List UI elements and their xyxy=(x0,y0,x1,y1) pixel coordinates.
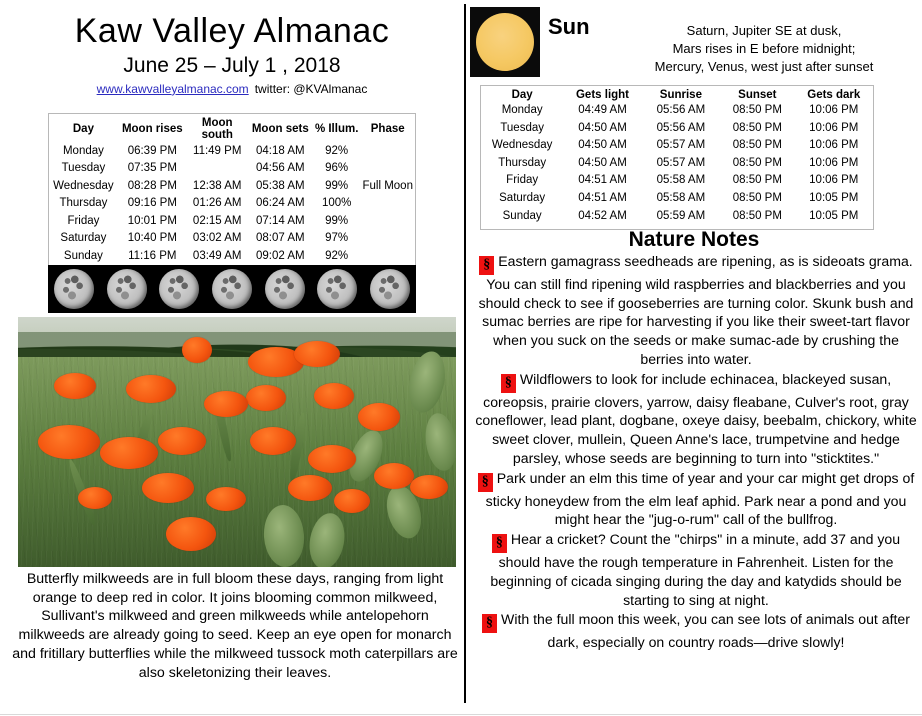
cell-day: Friday xyxy=(49,213,118,231)
list-item: §With the full moon this week, you can s… xyxy=(474,610,918,652)
moon-table-body: Monday06:39 PM11:49 PM04:18 AM92% Tuesda… xyxy=(49,143,415,266)
photo-blossom xyxy=(294,341,340,367)
cell-rises: 11:16 PM xyxy=(118,248,187,266)
cell-day: Sunday xyxy=(481,208,563,226)
cell-south: 03:49 AM xyxy=(187,248,248,266)
cell-sunset: 08:50 PM xyxy=(720,155,794,173)
moon-phase-icon xyxy=(159,269,199,309)
sun-col-day: Day xyxy=(481,88,563,102)
photo-blossom xyxy=(38,425,100,459)
photo-blossom xyxy=(358,403,400,431)
almanac-page: Kaw Valley Almanac June 25 – July 1 , 20… xyxy=(0,0,922,716)
moon-phase-icon xyxy=(54,269,94,309)
sun-col-sunrise: Sunrise xyxy=(642,88,720,102)
cell-gets-dark: 10:05 PM xyxy=(795,208,873,226)
table-row: Tuesday07:35 PM04:56 AM96% xyxy=(49,160,415,178)
note-text: Park under an elm this time of year and … xyxy=(486,470,915,528)
list-item: §Hear a cricket? Count the "chirps" in a… xyxy=(474,530,918,609)
cell-sets: 05:38 AM xyxy=(248,178,313,196)
cell-gets-light: 04:51 AM xyxy=(563,190,641,208)
table-row: Saturday10:40 PM03:02 AM08:07 AM97% xyxy=(49,230,415,248)
cell-phase: Full Moon xyxy=(360,178,415,196)
cell-gets-light: 04:51 AM xyxy=(563,172,641,190)
table-row: Thursday04:50 AM05:57 AM08:50 PM10:06 PM xyxy=(481,155,873,173)
planet-line: Mars rises in E before midnight; xyxy=(614,40,914,58)
cell-day: Sunday xyxy=(49,248,118,266)
section-bullet-icon: § xyxy=(492,534,507,553)
cell-phase xyxy=(360,160,415,178)
photo-blossom xyxy=(246,385,286,411)
table-row: Sunday04:52 AM05:59 AM08:50 PM10:05 PM xyxy=(481,208,873,226)
moon-phase-icon xyxy=(265,269,305,309)
cell-south xyxy=(187,160,248,178)
sun-header: Sun Saturn, Jupiter SE at dusk, Mars ris… xyxy=(466,0,922,78)
cell-sets: 06:24 AM xyxy=(248,195,313,213)
cell-sunrise: 05:56 AM xyxy=(642,102,720,120)
photo-blossom xyxy=(308,445,356,473)
page-title: Kaw Valley Almanac xyxy=(0,14,464,50)
date-range: June 25 – July 1 , 2018 xyxy=(0,54,464,77)
photo-blossom xyxy=(142,473,194,503)
cell-illum: 100% xyxy=(313,195,361,213)
photo-blossom xyxy=(288,475,332,501)
table-row: Sunday11:16 PM03:49 AM09:02 AM92% xyxy=(49,248,415,266)
list-item: §Wildflowers to look for include echinac… xyxy=(474,370,918,468)
cell-south: 03:02 AM xyxy=(187,230,248,248)
cell-sunset: 08:50 PM xyxy=(720,102,794,120)
cell-illum: 97% xyxy=(313,230,361,248)
section-bullet-icon: § xyxy=(501,374,516,393)
section-bullet-icon: § xyxy=(478,473,493,492)
photo-blossom xyxy=(54,373,96,399)
cell-sets: 09:02 AM xyxy=(248,248,313,266)
cell-gets-dark: 10:05 PM xyxy=(795,190,873,208)
sun-col-sunset: Sunset xyxy=(720,88,794,102)
sun-photo xyxy=(470,7,540,77)
cell-day: Saturday xyxy=(481,190,563,208)
cell-rises: 09:16 PM xyxy=(118,195,187,213)
cell-gets-light: 04:50 AM xyxy=(563,155,641,173)
table-row: Friday04:51 AM05:58 AM08:50 PM10:06 PM xyxy=(481,172,873,190)
cell-south: 02:15 AM xyxy=(187,213,248,231)
cell-gets-dark: 10:06 PM xyxy=(795,102,873,120)
photo-blossom xyxy=(78,487,112,509)
note-text: Eastern gamagrass seedheads are ripening… xyxy=(479,253,914,367)
cell-phase xyxy=(360,230,415,248)
cell-illum: 99% xyxy=(313,213,361,231)
section-bullet-icon: § xyxy=(482,614,497,633)
cell-sets: 04:18 AM xyxy=(248,143,313,161)
cell-illum: 96% xyxy=(313,160,361,178)
nature-notes-list: §Eastern gamagrass seedheads are ripenin… xyxy=(474,252,918,653)
list-item: §Eastern gamagrass seedheads are ripenin… xyxy=(474,252,918,369)
planet-line: Mercury, Venus, west just after sunset xyxy=(614,58,914,76)
right-column: Sun Saturn, Jupiter SE at dusk, Mars ris… xyxy=(466,0,922,716)
cell-rises: 06:39 PM xyxy=(118,143,187,161)
moon-col-day: Day xyxy=(49,116,118,143)
moon-col-phase: Phase xyxy=(360,116,415,143)
cell-sunrise: 05:58 AM xyxy=(642,190,720,208)
cell-south: 11:49 PM xyxy=(187,143,248,161)
cell-gets-light: 04:50 AM xyxy=(563,137,641,155)
cell-phase xyxy=(360,143,415,161)
sun-table: Day Gets light Sunrise Sunset Gets dark … xyxy=(481,88,873,225)
cell-gets-light: 04:52 AM xyxy=(563,208,641,226)
photo-blossom xyxy=(374,463,414,489)
cell-day: Thursday xyxy=(481,155,563,173)
photo-blossom xyxy=(250,427,296,455)
cell-rises: 10:01 PM xyxy=(118,213,187,231)
photo-blossom xyxy=(100,437,158,469)
cell-sunset: 08:50 PM xyxy=(720,137,794,155)
photo-blossom xyxy=(158,427,206,455)
table-row: Friday10:01 PM02:15 AM07:14 AM99% xyxy=(49,213,415,231)
moon-table-container: Day Moon rises Moonsouth Moon sets % Ill… xyxy=(48,113,416,269)
table-row: Thursday09:16 PM01:26 AM06:24 AM100% xyxy=(49,195,415,213)
cell-day: Monday xyxy=(481,102,563,120)
moon-col-sets: Moon sets xyxy=(248,116,313,143)
moon-phase-icon xyxy=(370,269,410,309)
photo-blossom xyxy=(334,489,370,513)
cell-phase xyxy=(360,195,415,213)
cell-rises: 08:28 PM xyxy=(118,178,187,196)
cell-gets-dark: 10:06 PM xyxy=(795,172,873,190)
sun-table-header-row: Day Gets light Sunrise Sunset Gets dark xyxy=(481,88,873,102)
sun-col-gets-dark: Gets dark xyxy=(795,88,873,102)
moon-table-header-row: Day Moon rises Moonsouth Moon sets % Ill… xyxy=(49,116,415,143)
moon-col-rises: Moon rises xyxy=(118,116,187,143)
table-row: Saturday04:51 AM05:58 AM08:50 PM10:05 PM xyxy=(481,190,873,208)
cell-sunset: 08:50 PM xyxy=(720,208,794,226)
cell-day: Monday xyxy=(49,143,118,161)
sun-col-gets-light: Gets light xyxy=(563,88,641,102)
photo-caption: Butterfly milkweeds are in full bloom th… xyxy=(10,570,460,682)
nature-notes-heading: Nature Notes xyxy=(466,228,922,252)
cell-day: Saturday xyxy=(49,230,118,248)
cell-day: Wednesday xyxy=(481,137,563,155)
cell-gets-dark: 10:06 PM xyxy=(795,120,873,138)
moon-phase-icon xyxy=(212,269,252,309)
cell-day: Wednesday xyxy=(49,178,118,196)
photo-blossom xyxy=(206,487,246,511)
cell-sunrise: 05:59 AM xyxy=(642,208,720,226)
planet-visibility-note: Saturn, Jupiter SE at dusk, Mars rises i… xyxy=(614,22,914,76)
cell-illum: 92% xyxy=(313,248,361,266)
cell-sets: 08:07 AM xyxy=(248,230,313,248)
masthead: Kaw Valley Almanac June 25 – July 1 , 20… xyxy=(0,0,464,96)
cell-gets-light: 04:50 AM xyxy=(563,120,641,138)
website-link[interactable]: www.kawvalleyalmanac.com xyxy=(97,82,249,96)
moon-table: Day Moon rises Moonsouth Moon sets % Ill… xyxy=(49,116,415,265)
moon-col-south: Moonsouth xyxy=(187,116,248,143)
table-row: Wednesday04:50 AM05:57 AM08:50 PM10:06 P… xyxy=(481,137,873,155)
moon-phase-icon xyxy=(317,269,357,309)
cell-illum: 92% xyxy=(313,143,361,161)
note-text: Hear a cricket? Count the "chirps" in a … xyxy=(490,531,901,607)
table-row: Monday06:39 PM11:49 PM04:18 AM92% xyxy=(49,143,415,161)
cell-sunrise: 05:58 AM xyxy=(642,172,720,190)
cell-gets-dark: 10:06 PM xyxy=(795,155,873,173)
left-column: Kaw Valley Almanac June 25 – July 1 , 20… xyxy=(0,0,464,716)
cell-south: 01:26 AM xyxy=(187,195,248,213)
masthead-links: www.kawvalleyalmanac.comtwitter: @KVAlma… xyxy=(0,82,464,96)
photo-blossom xyxy=(182,337,212,363)
moon-phase-strip xyxy=(48,265,416,313)
table-row: Tuesday04:50 AM05:56 AM08:50 PM10:06 PM xyxy=(481,120,873,138)
photo-blossom xyxy=(204,391,248,417)
twitter-handle[interactable]: twitter: @KVAlmanac xyxy=(255,82,368,96)
section-bullet-icon: § xyxy=(479,256,494,275)
cell-illum: 99% xyxy=(313,178,361,196)
cell-phase xyxy=(360,248,415,266)
cell-rises: 10:40 PM xyxy=(118,230,187,248)
moon-phase-icon xyxy=(107,269,147,309)
cell-day: Tuesday xyxy=(481,120,563,138)
note-text: With the full moon this week, you can se… xyxy=(501,611,910,650)
cell-gets-light: 04:49 AM xyxy=(563,102,641,120)
table-row: Monday04:49 AM05:56 AM08:50 PM10:06 PM xyxy=(481,102,873,120)
cell-gets-dark: 10:06 PM xyxy=(795,137,873,155)
butterfly-milkweed-photo xyxy=(18,317,456,567)
photo-blossom xyxy=(166,517,216,551)
sun-icon xyxy=(476,13,534,71)
cell-sets: 07:14 AM xyxy=(248,213,313,231)
cell-sunrise: 05:57 AM xyxy=(642,155,720,173)
cell-sunrise: 05:57 AM xyxy=(642,137,720,155)
photo-blossom xyxy=(314,383,354,409)
cell-day: Thursday xyxy=(49,195,118,213)
sun-table-container: Day Gets light Sunrise Sunset Gets dark … xyxy=(480,85,874,230)
cell-sunset: 08:50 PM xyxy=(720,172,794,190)
sun-table-body: Monday04:49 AM05:56 AM08:50 PM10:06 PM T… xyxy=(481,102,873,225)
moon-col-illum: % Illum. xyxy=(313,116,361,143)
cell-sunset: 08:50 PM xyxy=(720,190,794,208)
cell-sunset: 08:50 PM xyxy=(720,120,794,138)
photo-blossom xyxy=(126,375,176,403)
photo-blossom xyxy=(410,475,448,499)
cell-phase xyxy=(360,213,415,231)
cell-day: Tuesday xyxy=(49,160,118,178)
planet-line: Saturn, Jupiter SE at dusk, xyxy=(614,22,914,40)
table-row: Wednesday08:28 PM12:38 AM05:38 AM99%Full… xyxy=(49,178,415,196)
cell-sets: 04:56 AM xyxy=(248,160,313,178)
cell-south: 12:38 AM xyxy=(187,178,248,196)
list-item: §Park under an elm this time of year and… xyxy=(474,469,918,529)
note-text: Wildflowers to look for include echinace… xyxy=(475,371,916,466)
cell-rises: 07:35 PM xyxy=(118,160,187,178)
sun-label: Sun xyxy=(548,14,590,40)
cell-sunrise: 05:56 AM xyxy=(642,120,720,138)
cell-day: Friday xyxy=(481,172,563,190)
